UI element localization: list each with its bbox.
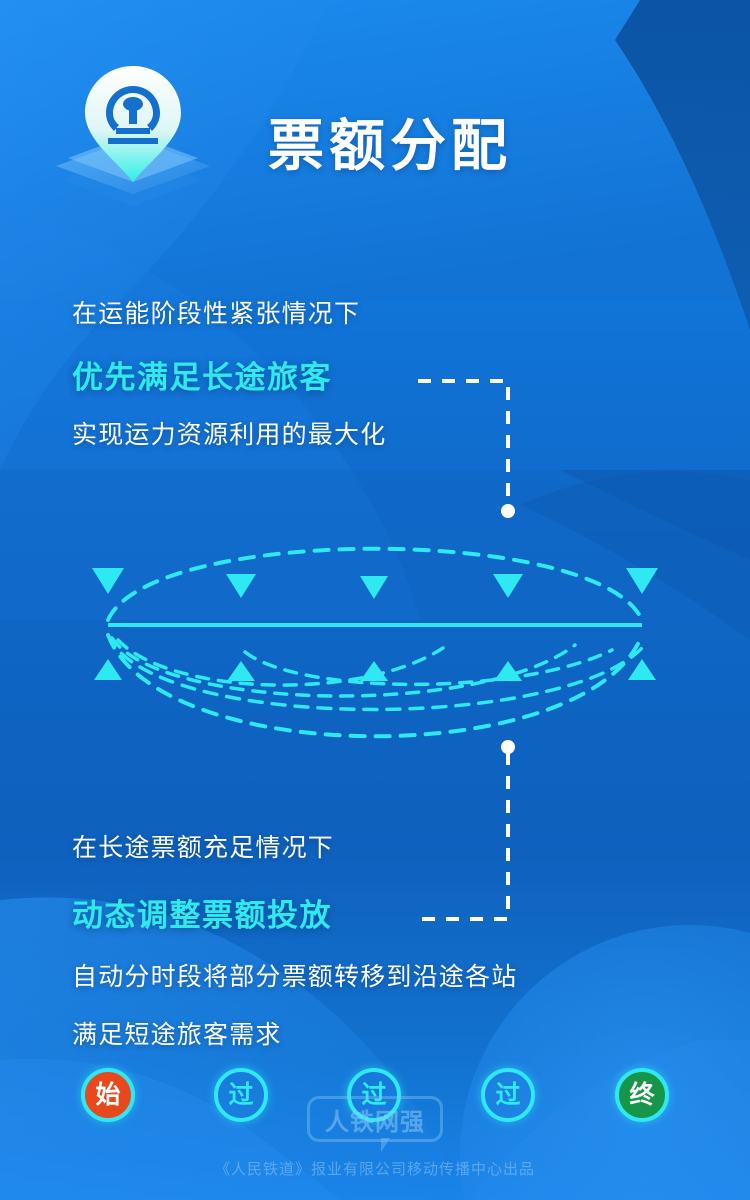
- arrow-down-1: [92, 568, 124, 594]
- arrow-up-5: [628, 659, 656, 680]
- arrow-up-3: [360, 661, 388, 681]
- bottom-line-3: 自动分时段将部分票额转移到沿途各站: [72, 961, 517, 993]
- top-line-3: 实现运力资源利用的最大化: [72, 419, 386, 451]
- railway-pin-svg: [48, 58, 218, 208]
- footer: 人铁网强 《人民铁道》报业有限公司移动传播中心出品: [0, 1080, 750, 1200]
- arrow-down-4: [493, 574, 523, 598]
- header: 票额分配: [0, 0, 750, 240]
- watermark-badge-tail: [381, 1138, 390, 1152]
- bottom-line-4: 满足短途旅客需求: [72, 1019, 517, 1051]
- diagram-svg: [0, 470, 750, 830]
- page-title: 票额分配: [268, 118, 512, 174]
- arrow-down-2: [226, 574, 256, 598]
- arrow-down-3: [360, 576, 388, 599]
- bottom-text-block: 在长途票额充足情况下 动态调整票额投放 自动分时段将部分票额转移到沿途各站 满足…: [72, 832, 517, 1051]
- bottom-line-1: 在长途票额充足情况下: [72, 832, 517, 864]
- watermark-badge-label: 人铁网强: [325, 1102, 425, 1137]
- top-text-block: 在运能阶段性紧张情况下 优先满足长途旅客 实现运力资源利用的最大化: [72, 298, 386, 451]
- top-line-1: 在运能阶段性紧张情况下: [72, 298, 386, 330]
- station-route-diagram: 始 过 过 过 终: [0, 470, 750, 830]
- footer-caption: 《人民铁道》报业有限公司移动传播中心出品: [0, 1158, 750, 1179]
- arrow-up-1: [94, 659, 122, 680]
- top-highlight: 优先满足长途旅客: [72, 352, 386, 397]
- railway-pin-icon: [48, 58, 218, 208]
- watermark-badge: 人铁网强: [307, 1096, 443, 1142]
- poster-root: 票额分配 在运能阶段性紧张情况下 优先满足长途旅客 实现运力资源利用的最大化: [0, 0, 750, 1200]
- arrow-up-2: [227, 661, 255, 681]
- bottom-highlight: 动态调整票额投放: [72, 890, 517, 935]
- arrow-down-5: [626, 568, 658, 594]
